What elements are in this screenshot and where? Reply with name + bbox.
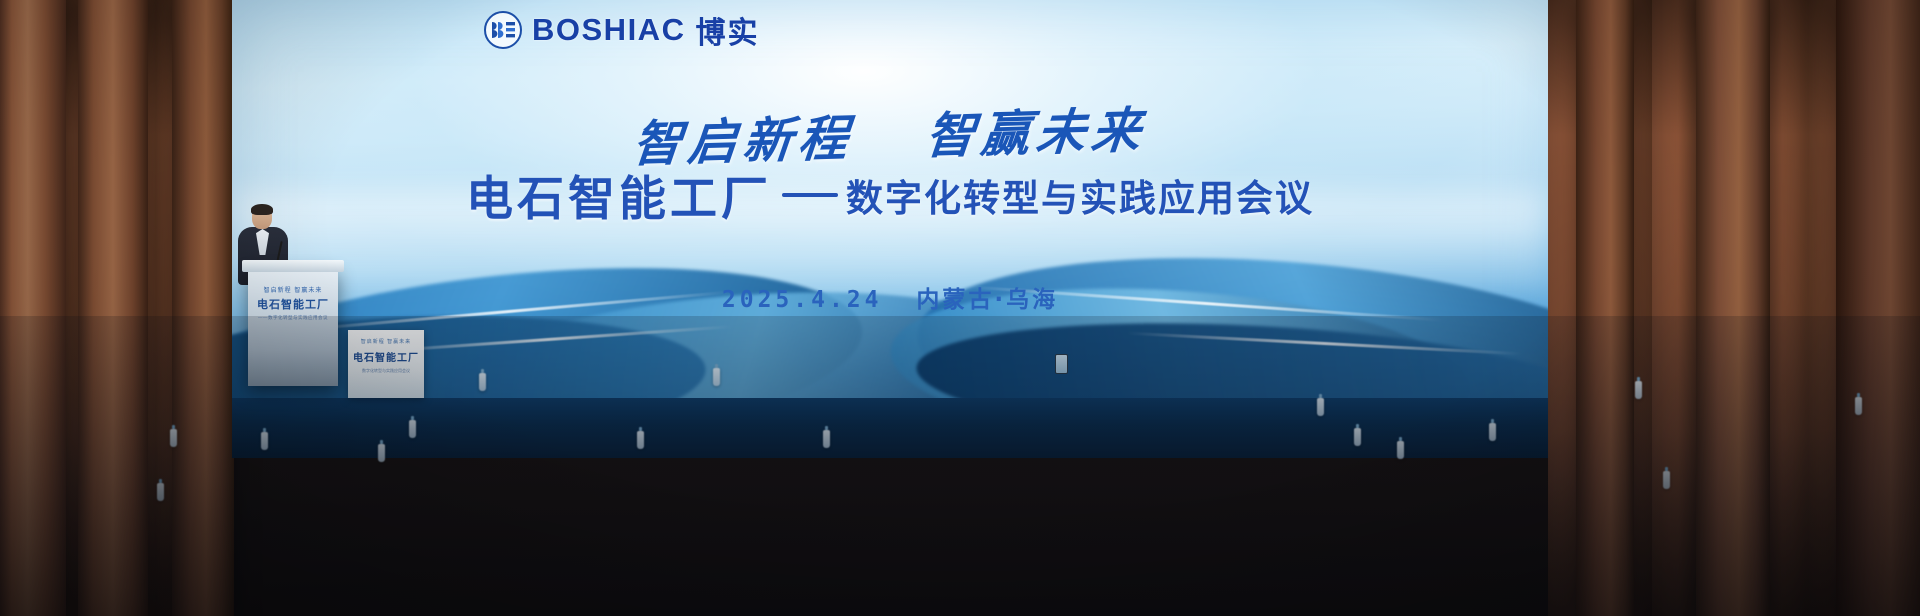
water-bottle: [261, 432, 268, 450]
podium-top-surface: [242, 260, 344, 272]
screen-main-title: 电石智能工厂: [466, 160, 772, 229]
podium-sign-line-1: 智启新程 智赢未来: [256, 288, 330, 296]
brand-chinese-name: 博实: [695, 8, 759, 52]
event-location: 内蒙古·乌海: [900, 287, 1058, 313]
audience-area: [0, 316, 1920, 616]
water-bottle: [1317, 398, 1324, 416]
water-bottle: [713, 368, 720, 386]
water-bottle: [1354, 428, 1361, 446]
water-bottle: [1663, 471, 1670, 489]
title-dash-rule: [782, 193, 838, 197]
boshiac-circle-logo-icon: [484, 11, 522, 49]
screen-date-line: 2025.4.24 内蒙古·乌海: [232, 280, 1548, 314]
water-bottle: [378, 444, 385, 462]
water-bottle: [1635, 381, 1642, 399]
water-bottle: [637, 431, 644, 449]
water-bottle: [1397, 441, 1404, 459]
screen-subtitle: 数字化转型与实践应用会议: [846, 168, 1314, 222]
water-bottle: [823, 430, 830, 448]
water-bottle: [1489, 423, 1496, 441]
brand-lockup: BOSHIAC 博实: [484, 8, 759, 52]
water-bottle: [170, 429, 177, 447]
event-date: 2025.4.24: [722, 287, 883, 313]
calligraphy-phrase-2: 智赢未来: [923, 101, 1149, 165]
speaker-hair: [251, 204, 273, 215]
podium-sign-line-2: 电石智能工厂: [256, 299, 330, 313]
water-bottle: [1855, 397, 1862, 415]
water-bottle: [479, 373, 486, 391]
conference-photo-scene: BOSHIAC 博实 智启新程 智赢未来 电石智能工厂 数字化转型与实践应用会议…: [0, 0, 1920, 616]
calligraphy-spacer: [875, 154, 901, 155]
smartphone: [1055, 354, 1068, 374]
water-bottle: [157, 483, 164, 501]
water-bottle: [409, 420, 416, 438]
brand-wordmark: BOSHIAC: [532, 12, 685, 48]
screen-title-row: 电石智能工厂 数字化转型与实践应用会议: [232, 160, 1548, 229]
